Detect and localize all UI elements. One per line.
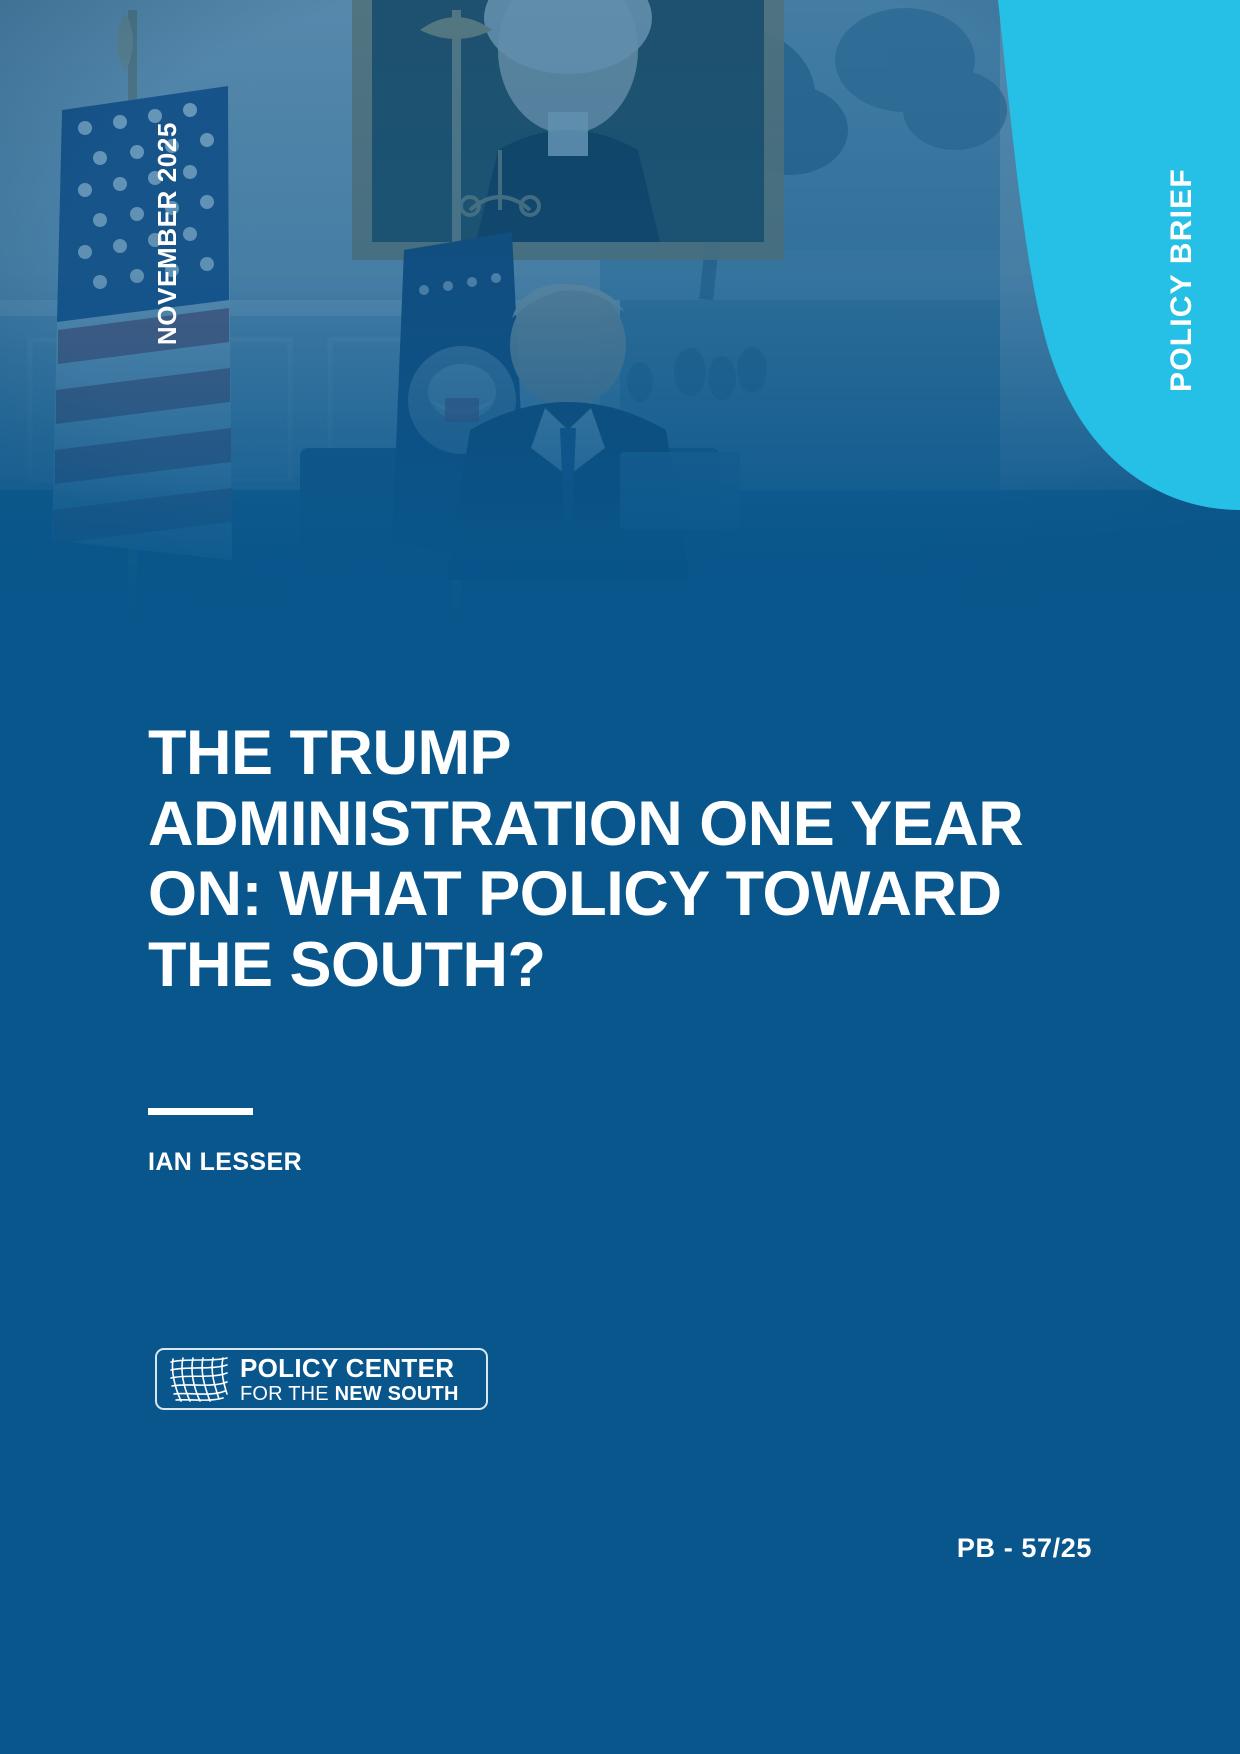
title-divider	[148, 1108, 253, 1115]
logo-line-two: FOR THE NEW SOUTH	[240, 1384, 459, 1404]
policy-brief-label: POLICY BRIEF	[1152, 90, 1212, 470]
organization-logo: POLICY CENTER FOR THE NEW SOUTH	[155, 1348, 488, 1410]
publication-date: NOVEMBER 2025	[152, 122, 183, 345]
author-name: IAN LESSER	[148, 1148, 302, 1177]
page-title: THE TRUMP ADMINISTRATION ONE YEAR ON: WH…	[148, 718, 1028, 1000]
title-block: THE TRUMP ADMINISTRATION ONE YEAR ON: WH…	[148, 718, 1028, 1000]
logo-wordmark: POLICY CENTER FOR THE NEW SOUTH	[240, 1355, 459, 1404]
cover-photo	[0, 0, 1240, 680]
woven-net-icon	[169, 1356, 231, 1402]
logo-line-one: POLICY CENTER	[240, 1355, 459, 1381]
reference-number: PB - 57/25	[957, 1533, 1092, 1564]
logo-line-two-light: FOR THE	[240, 1383, 335, 1405]
policy-brief-cover: POLICY BRIEF NOVEMBER 2025 THE TRUMP ADM…	[0, 0, 1240, 1754]
photo-bottom-fade	[0, 470, 1240, 680]
logo-line-two-bold: NEW SOUTH	[335, 1383, 459, 1405]
